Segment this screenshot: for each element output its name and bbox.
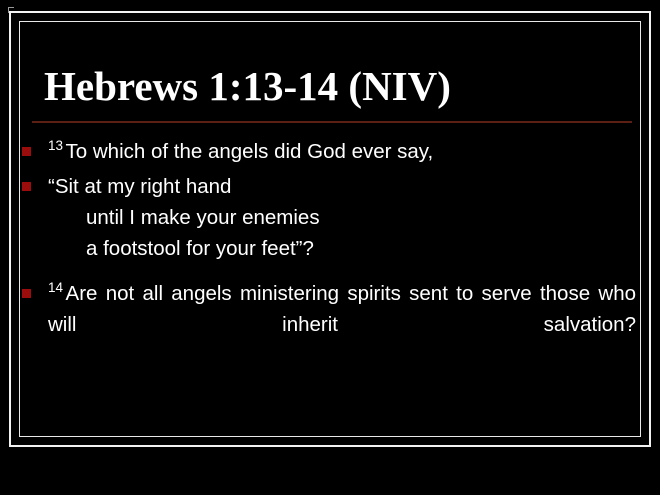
slide-body: 13To which of the angels did God ever sa… [22, 136, 636, 373]
bullet-item: 14Are not all angels ministering spirits… [22, 278, 636, 371]
slide-title: Hebrews 1:13-14 (NIV) [44, 62, 604, 110]
bullet-line: Are not all angels ministering spirits s… [48, 282, 636, 336]
bullet-line: until I make your enemies [48, 202, 636, 233]
title-divider-rule [32, 121, 632, 123]
bullet-line: To which of the angels did God ever say, [66, 140, 434, 163]
slide-canvas: Hebrews 1:13-14 (NIV) 13To which of the … [0, 0, 660, 495]
bullet-square-icon [22, 182, 31, 191]
verse-number-superscript: 14 [48, 280, 66, 295]
bullet-line: a footstool for your feet”? [48, 233, 636, 264]
bullet-square-icon [22, 289, 31, 298]
bullet-text: 14Are not all angels ministering spirits… [48, 278, 636, 371]
bullet-text: “Sit at my right hand until I make your … [48, 171, 636, 264]
frame-corner-notch [8, 7, 14, 13]
bullet-square-icon [22, 147, 31, 156]
bullet-item: 13To which of the angels did God ever sa… [22, 136, 636, 167]
bullet-text: 13To which of the angels did God ever sa… [48, 136, 636, 167]
bullet-item: “Sit at my right hand until I make your … [22, 171, 636, 264]
bullet-line: “Sit at my right hand [48, 171, 636, 202]
verse-number-superscript: 13 [48, 138, 66, 153]
